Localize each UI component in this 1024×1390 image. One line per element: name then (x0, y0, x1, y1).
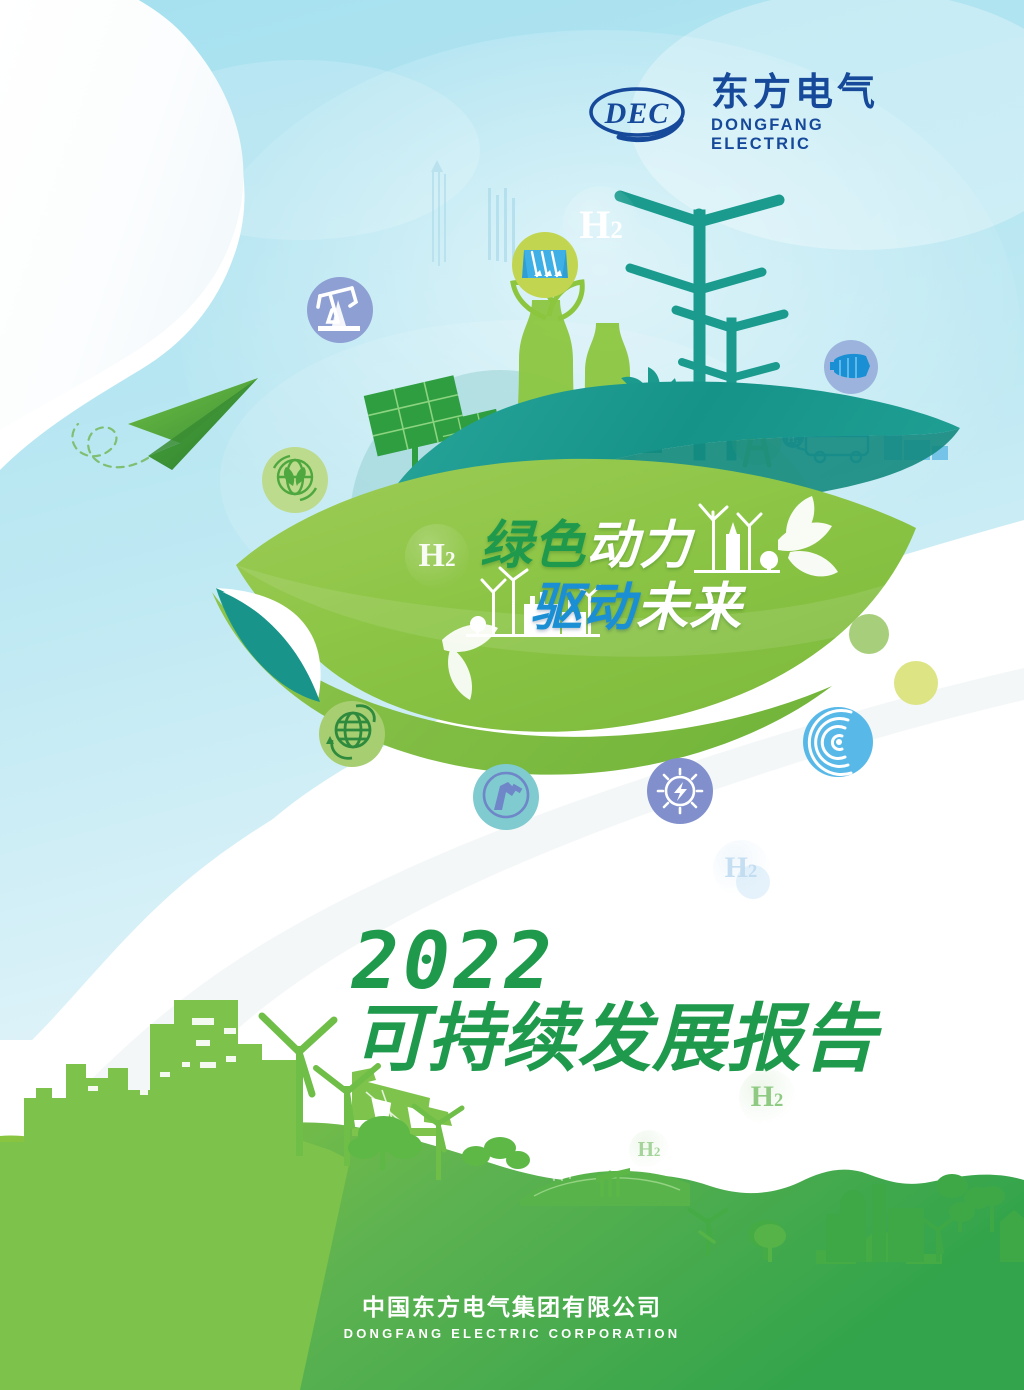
report-year: 2022 (352, 925, 912, 999)
decor-dot-green (849, 614, 889, 654)
svg-text:DEC: DEC (604, 97, 670, 130)
globe-recycle-leaf-icon (262, 447, 328, 513)
footer-company-cn: 中国东方电气集团有限公司 (0, 1288, 1024, 1322)
dec-oval-logo-icon: DEC (585, 84, 697, 144)
slogan-part-1: 绿色 (480, 517, 586, 575)
hydrogen-label-icon: H2 (629, 1130, 669, 1170)
globe-recycle-icon (319, 701, 385, 767)
logo-name-en: DONGFANG ELECTRIC (711, 116, 925, 154)
brand-logo[interactable]: DEC 东方电气 DONGFANG ELECTRIC (585, 78, 925, 150)
cover-footer: 中国东方电气集团有限公司 DONGFANG ELECTRIC CORPORATI… (0, 1288, 1024, 1341)
hydrogen-label-icon: H2 (713, 840, 770, 897)
report-title: 2022 可持续发展报告 (352, 925, 912, 1077)
footer-company-en: DONGFANG ELECTRIC CORPORATION (0, 1326, 1024, 1341)
hydrogen-label-icon: H2 (739, 1069, 796, 1126)
cover-illustration: H₂ (0, 0, 1024, 1390)
slogan-part-2: 动力 (586, 517, 692, 575)
logo-name-cn: 东方电气 (711, 74, 925, 114)
hydrogen-label-icon: H2 (563, 186, 639, 262)
report-title-main: 可持续发展报告 (352, 1001, 912, 1076)
slogan-part-4: 未来 (636, 579, 742, 637)
cover-slogan: 绿色动力 驱动未来 (480, 520, 820, 645)
hydrogen-label-icon: H2 (405, 524, 470, 589)
report-cover: H₂ (0, 0, 1024, 1390)
decor-dot-yellow (894, 661, 938, 705)
slogan-part-3: 驱动 (530, 579, 636, 637)
